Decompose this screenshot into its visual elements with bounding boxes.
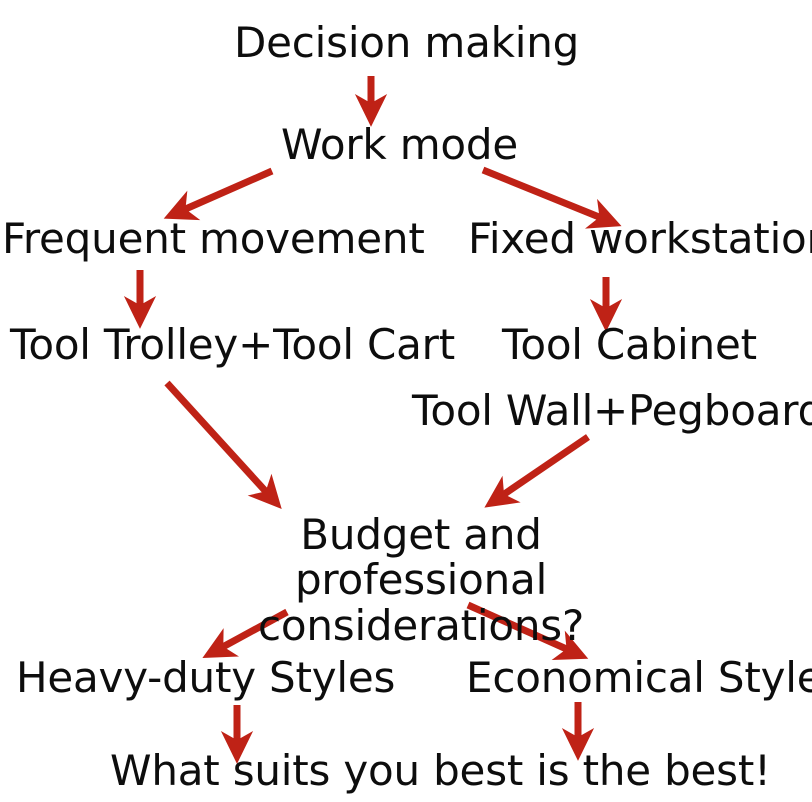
node-fixed-workstation: Fixed workstation: [468, 216, 812, 261]
edge-workmode-to-fixed: [483, 170, 604, 219]
node-frequent-movement: Frequent movement: [2, 216, 425, 261]
flowchart-canvas: Decision making Work mode Frequent movem…: [0, 0, 812, 802]
edge-trolley-to-budget: [167, 383, 269, 495]
edge-workmode-to-frequent: [181, 171, 272, 211]
node-tool-trolley-cart: Tool Trolley+Tool Cart: [10, 322, 455, 367]
node-heavy-duty-styles: Heavy-duty Styles: [16, 655, 395, 700]
node-budget-considerations: Budget and professional considerations?: [186, 512, 656, 648]
node-tool-cabinet: Tool Cabinet: [502, 322, 757, 367]
node-economical-styles: Economical Styles: [466, 655, 812, 700]
node-decision-making: Decision making: [234, 20, 579, 65]
node-tool-wall-pegboard: Tool Wall+Pegboard: [412, 388, 812, 433]
edge-wall-to-budget: [500, 437, 588, 497]
node-work-mode: Work mode: [281, 122, 518, 167]
node-what-suits-you-best: What suits you best is the best!: [110, 748, 771, 793]
